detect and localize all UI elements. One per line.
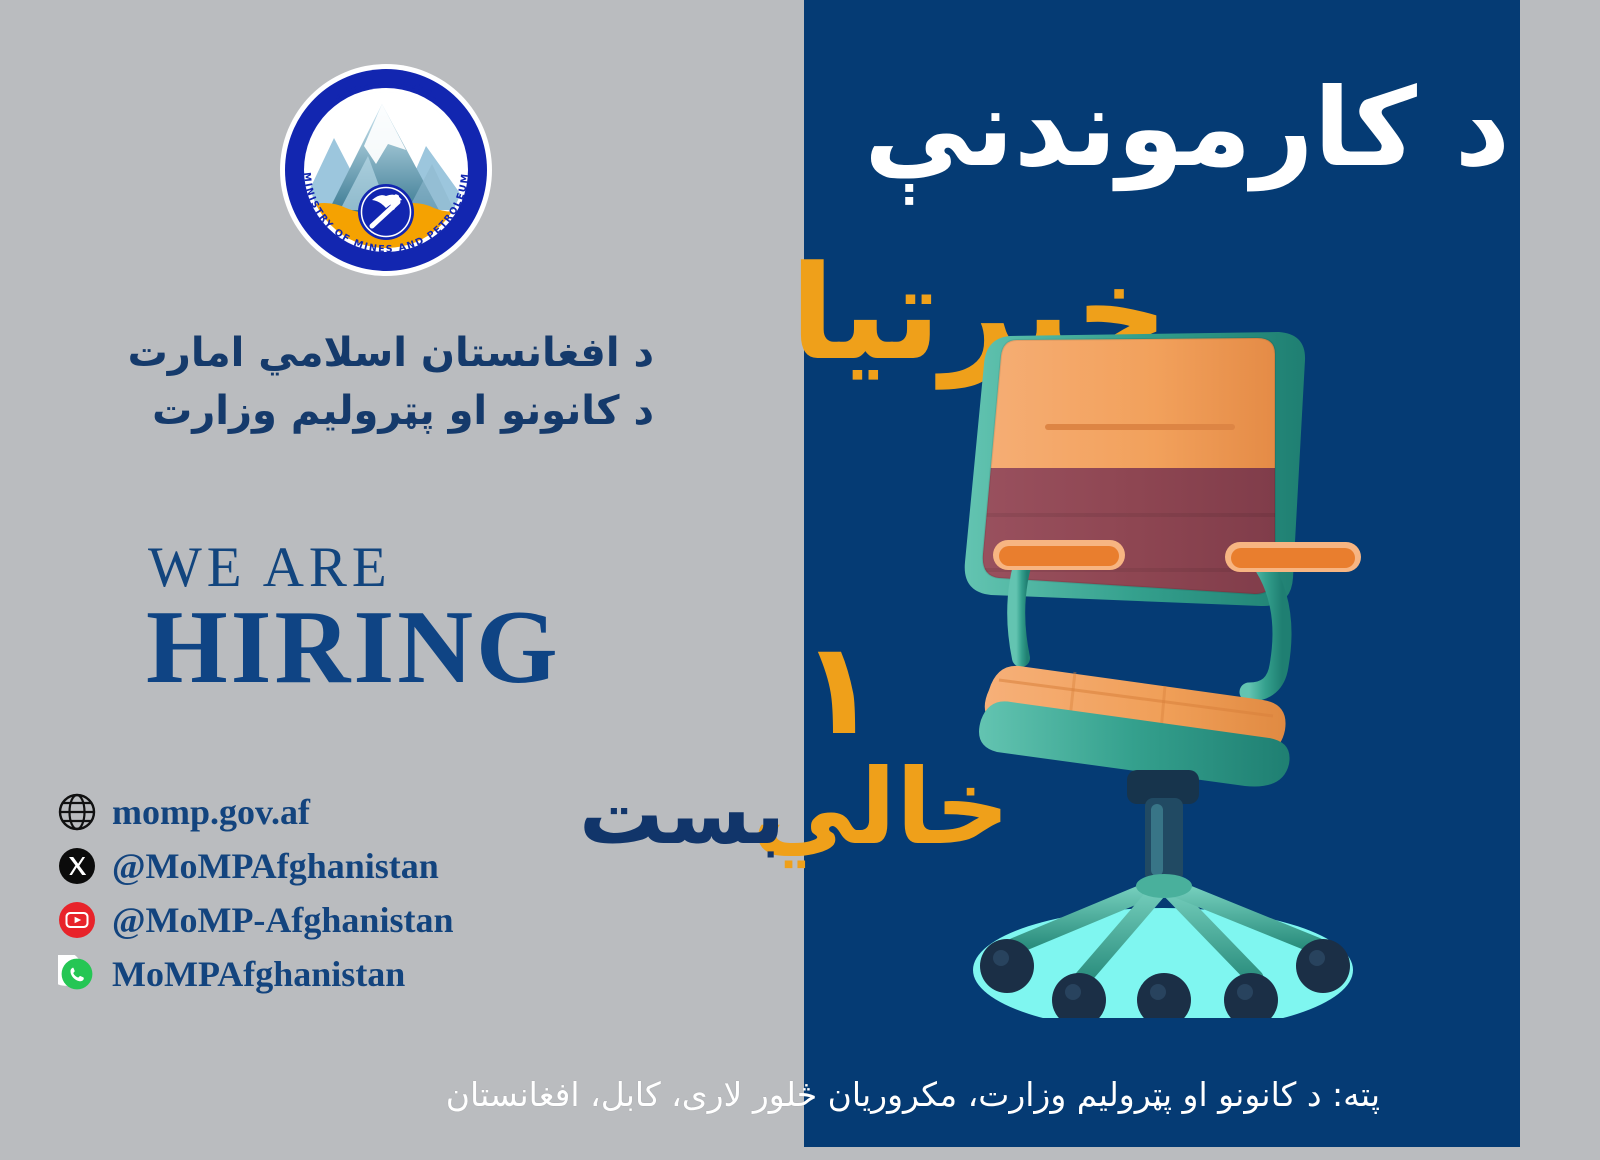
social-label-website: momp.gov.af xyxy=(112,791,310,833)
vacancy-count: ۱ xyxy=(800,626,878,754)
whatsapp-icon xyxy=(58,955,96,993)
address-line: پته: د کانونو او پټرولیم وزارت، مکروریان… xyxy=(0,1075,1380,1115)
social-link-youtube[interactable]: @MoMP-Afghanistan xyxy=(58,896,578,944)
social-label-whatsapp: MoMPAfghanistan xyxy=(112,953,405,995)
social-link-whatsapp[interactable]: MoMPAfghanistan xyxy=(58,950,578,998)
headline-primary: د کارموندنې xyxy=(820,72,1510,185)
social-label-x: @MoMPAfghanistan xyxy=(112,845,439,887)
chair-cylinder xyxy=(1145,798,1183,882)
vacancy-post-word: بست xyxy=(575,772,785,856)
hiring-label: HIRING xyxy=(146,594,561,699)
office-chair-icon xyxy=(955,318,1385,1018)
ministry-line-2: د کانونو او پټرولیم وزارت xyxy=(40,382,654,440)
office-chair-illustration xyxy=(955,318,1385,1018)
chair-stitch-line xyxy=(1045,424,1235,430)
social-link-x[interactable]: @MoMPAfghanistan xyxy=(58,842,578,890)
seal-icon: MINISTRY OF MINES AND PETROLEUM د افغانس… xyxy=(276,56,496,284)
ministry-logo: MINISTRY OF MINES AND PETROLEUM د افغانس… xyxy=(276,56,496,284)
youtube-icon xyxy=(58,901,96,939)
social-label-youtube: @MoMP-Afghanistan xyxy=(112,899,453,941)
social-links: momp.gov.af @MoMPAfghanistan @MoMP-A xyxy=(58,788,578,1004)
ministry-line-1: د افغانستان اسلامي امارت xyxy=(40,324,654,382)
social-link-website[interactable]: momp.gov.af xyxy=(58,788,578,836)
ministry-name: د افغانستان اسلامي امارت د کانونو او پټر… xyxy=(40,324,654,440)
hiring-poster: MINISTRY OF MINES AND PETROLEUM د افغانس… xyxy=(0,0,1600,1160)
x-twitter-icon xyxy=(58,847,96,885)
globe-icon xyxy=(58,793,96,831)
